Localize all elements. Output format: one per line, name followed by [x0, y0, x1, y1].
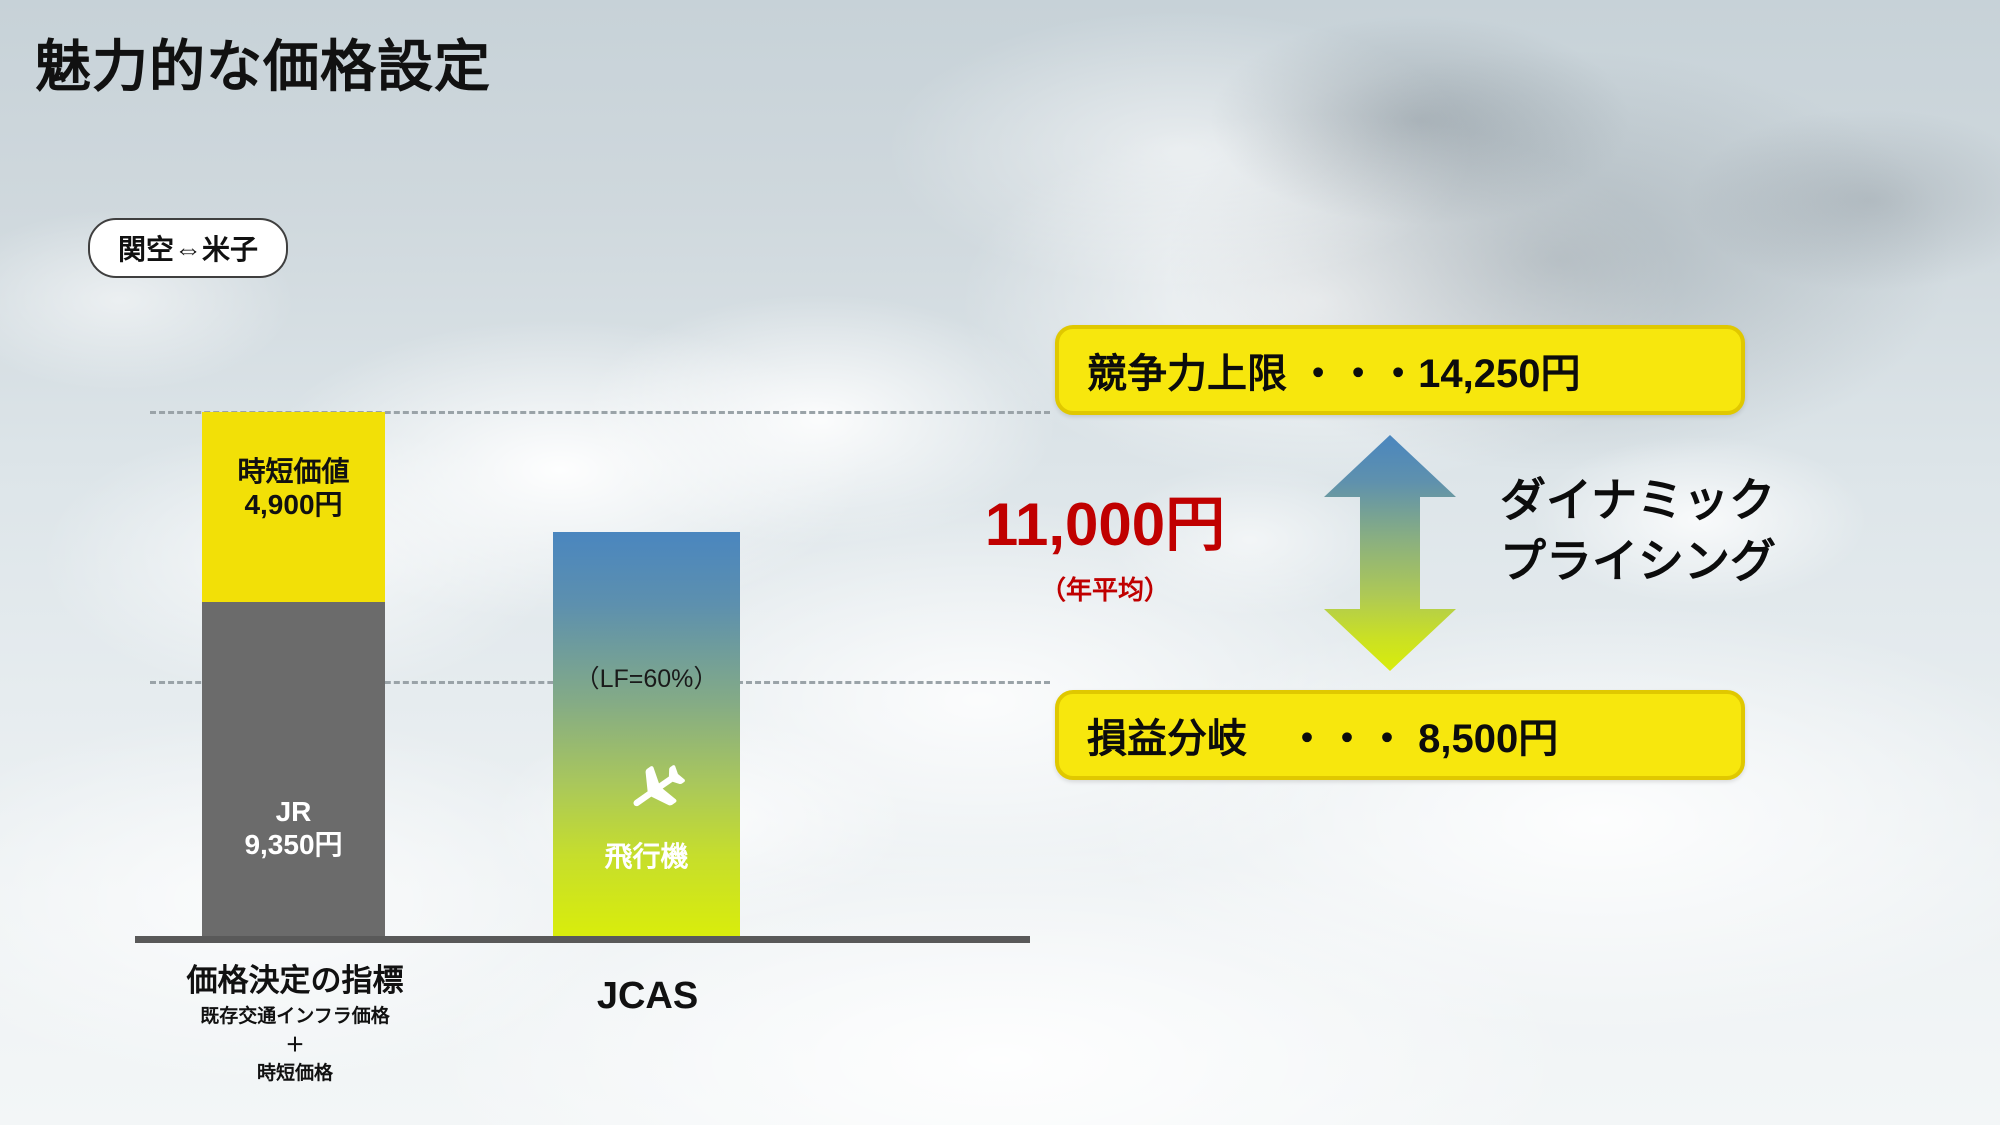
- bar-label-jisan-kachi-line2: 4,900円: [202, 488, 385, 521]
- category-sublabel-price-index: 既存交通インフラ価格 ＋ 時短価格: [140, 1003, 450, 1089]
- dynamic-pricing-line2: プライシング: [1500, 531, 1776, 592]
- callout-box-competitive-ceiling-label: 競争力上限 ・・・14,250円: [1087, 341, 1580, 399]
- category-label-price-index: 価格決定の指標: [140, 955, 450, 1000]
- callout-box-breakeven: 損益分岐 ・・・ 8,500円: [1055, 690, 1745, 780]
- bar-label-jr: JR 9,350円: [202, 795, 385, 861]
- category-sublabel-line2: ＋: [140, 1032, 450, 1061]
- callout-box-competitive-ceiling: 競争力上限 ・・・14,250円: [1055, 325, 1745, 415]
- double-headed-vertical-arrow-icon: [1320, 433, 1460, 673]
- route-badge: 関空⇔米子: [88, 218, 288, 278]
- bar-label-jisan-kachi-line1: 時短価値: [202, 455, 385, 488]
- bar-label-airplane: 飛行機: [553, 840, 740, 873]
- average-price-value: 11,000円: [960, 495, 1250, 555]
- airplane-icon: [625, 755, 689, 819]
- load-factor-note: （LF=60%）: [553, 665, 740, 695]
- bar-airplane-jcas: [553, 532, 740, 937]
- page-title: 魅力的な価格設定: [35, 22, 491, 103]
- bar-label-jr-line2: 9,350円: [202, 828, 385, 861]
- callout-box-breakeven-label: 損益分岐 ・・・ 8,500円: [1087, 706, 1558, 764]
- category-sublabel-line3: 時短価格: [140, 1060, 450, 1089]
- category-label-jcas: JCAS: [555, 975, 740, 1018]
- dynamic-pricing-line1: ダイナミック: [1500, 470, 1776, 531]
- category-sublabel-line1: 既存交通インフラ価格: [140, 1003, 450, 1032]
- average-price-note: （年平均）: [960, 570, 1250, 607]
- route-badge-label: 関空⇔米子: [118, 228, 258, 268]
- chart-baseline-axis: [135, 936, 1030, 943]
- bar-label-jisan-kachi: 時短価値 4,900円: [202, 455, 385, 521]
- bar-label-jr-line1: JR: [202, 795, 385, 828]
- slide-canvas: 魅力的な価格設定 関空⇔米子 時短価値 4,900円 JR 9,350円 飛行機…: [0, 0, 2000, 1125]
- dynamic-pricing-label: ダイナミック プライシング: [1500, 470, 1776, 591]
- bar-segment-jr: [202, 602, 385, 937]
